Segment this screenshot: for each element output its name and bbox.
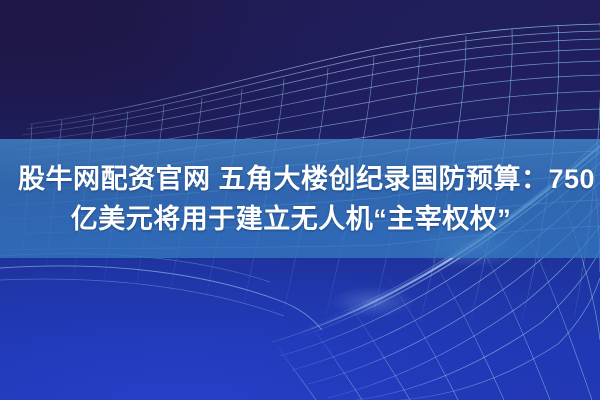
headline-line-1: 股牛网配资官网 五角大楼创纪录国防预算：750 [14,159,586,199]
headline-line-2: 亿美元将用于建立无人机“主宰权权” [14,199,586,239]
banner-image: 股牛网配资官网 五角大楼创纪录国防预算：750 亿美元将用于建立无人机“主宰权权… [0,0,600,400]
mesh-leading-edge [0,254,322,330]
headline-block: 股牛网配资官网 五角大楼创纪录国防预算：750 亿美元将用于建立无人机“主宰权权… [0,139,600,258]
